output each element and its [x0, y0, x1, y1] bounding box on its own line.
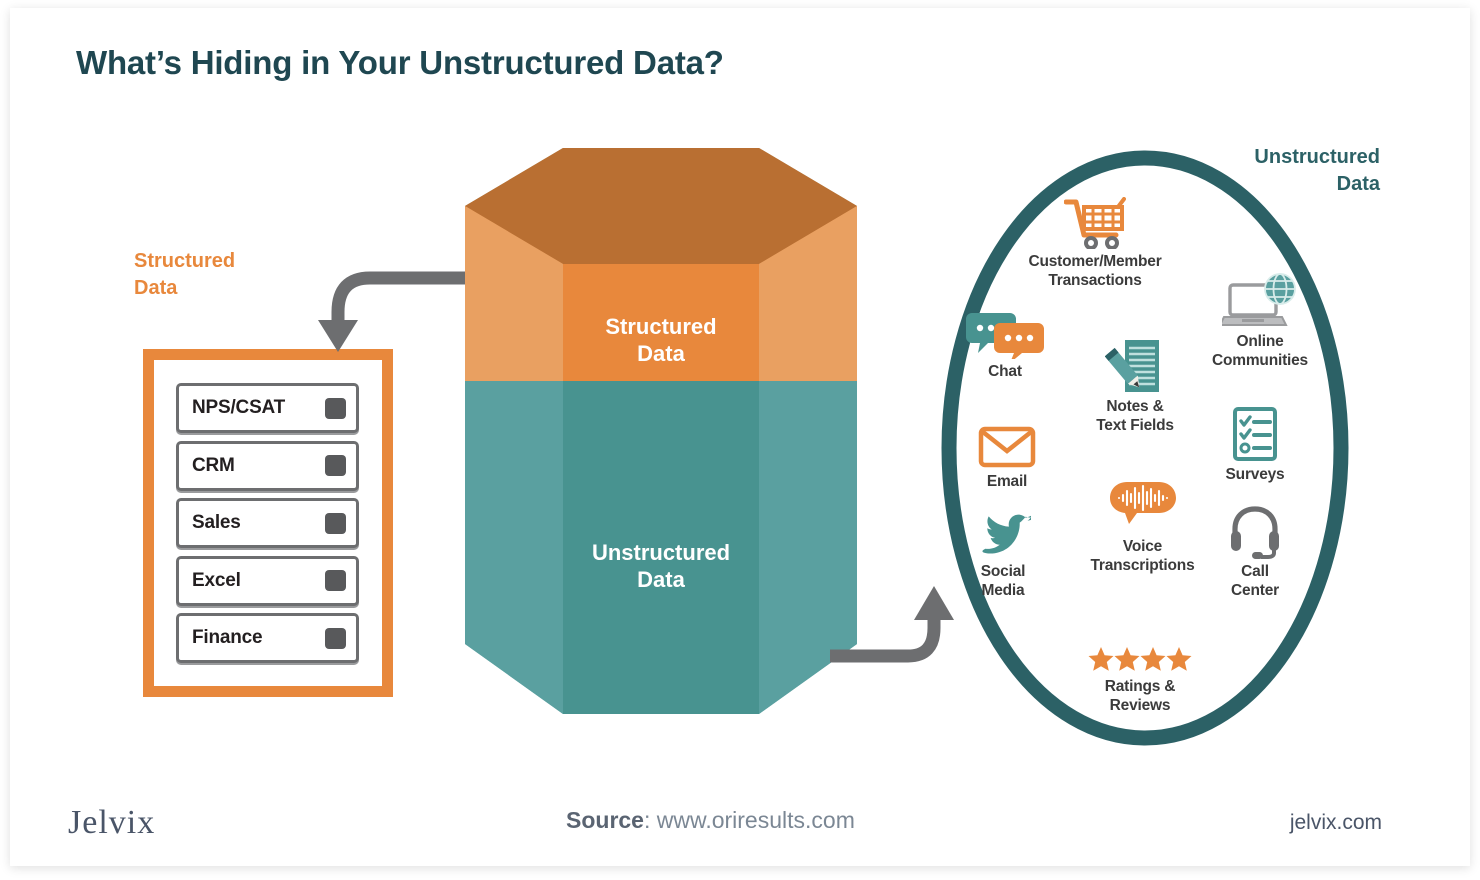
- source-caption: Online Communities: [1170, 333, 1350, 370]
- list-item[interactable]: CRM: [176, 441, 359, 491]
- structured-data-label-line2: Data: [134, 275, 334, 302]
- laptop-globe-icon: [1170, 273, 1350, 329]
- headset-icon: [1180, 503, 1330, 559]
- list-item-label: Excel: [192, 570, 241, 592]
- list-item[interactable]: Finance: [176, 613, 359, 663]
- page-title: What’s Hiding in Your Unstructured Data?: [76, 44, 724, 82]
- prism-unstructured-label: Unstructured Data: [465, 540, 857, 594]
- infographic-canvas: What’s Hiding in Your Unstructured Data?…: [10, 8, 1470, 866]
- survey-checklist-icon: [1180, 406, 1330, 462]
- source-caption: Ratings & Reviews: [1050, 678, 1230, 715]
- prism-unstructured-label-line1: Unstructured: [465, 540, 857, 567]
- server-indicator-icon: [325, 570, 346, 591]
- star-rating-icon: [1050, 618, 1230, 674]
- list-item-label: Sales: [192, 512, 241, 534]
- structured-data-label: Structured Data: [134, 248, 334, 302]
- list-item-label: Finance: [192, 627, 262, 649]
- source-ratings-reviews[interactable]: Ratings & Reviews: [1050, 618, 1230, 715]
- server-indicator-icon: [325, 398, 346, 419]
- jelvix-logo: Jelvix: [68, 804, 155, 842]
- unstructured-sources-oval: Customer/Member Transactions Chat: [940, 148, 1350, 748]
- server-indicator-icon: [325, 628, 346, 649]
- prism-structured-label-line2: Data: [465, 341, 857, 368]
- server-indicator-icon: [325, 455, 346, 476]
- list-item[interactable]: Excel: [176, 556, 359, 606]
- list-item-label: CRM: [192, 455, 235, 477]
- data-volume-prism: Structured Data Unstructured Data: [465, 136, 857, 786]
- server-indicator-icon: [325, 513, 346, 534]
- prism-structured-label-line1: Structured: [465, 314, 857, 341]
- source-call-center[interactable]: Call Center: [1180, 503, 1330, 600]
- site-url: jelvix.com: [1290, 811, 1382, 835]
- prism-unstructured-label-line2: Data: [465, 567, 857, 594]
- source-credit-label: Source: [566, 807, 644, 833]
- source-credit-url: www.oriresults.com: [657, 807, 855, 833]
- structured-data-list: NPS/CSAT CRM Sales Excel Finance: [176, 383, 359, 663]
- prism-structured-label: Structured Data: [465, 314, 857, 368]
- structured-data-label-line1: Structured: [134, 248, 334, 275]
- source-credit: Source: www.oriresults.com: [566, 807, 855, 834]
- shopping-cart-icon: [980, 193, 1210, 249]
- source-surveys[interactable]: Surveys: [1180, 406, 1330, 485]
- source-caption: Call Center: [1180, 563, 1330, 600]
- email-envelope-icon: [932, 413, 1082, 469]
- list-item[interactable]: NPS/CSAT: [176, 383, 359, 433]
- source-credit-separator: :: [644, 807, 657, 833]
- source-online-communities[interactable]: Online Communities: [1170, 273, 1350, 370]
- list-item[interactable]: Sales: [176, 498, 359, 548]
- list-item-label: NPS/CSAT: [192, 397, 285, 419]
